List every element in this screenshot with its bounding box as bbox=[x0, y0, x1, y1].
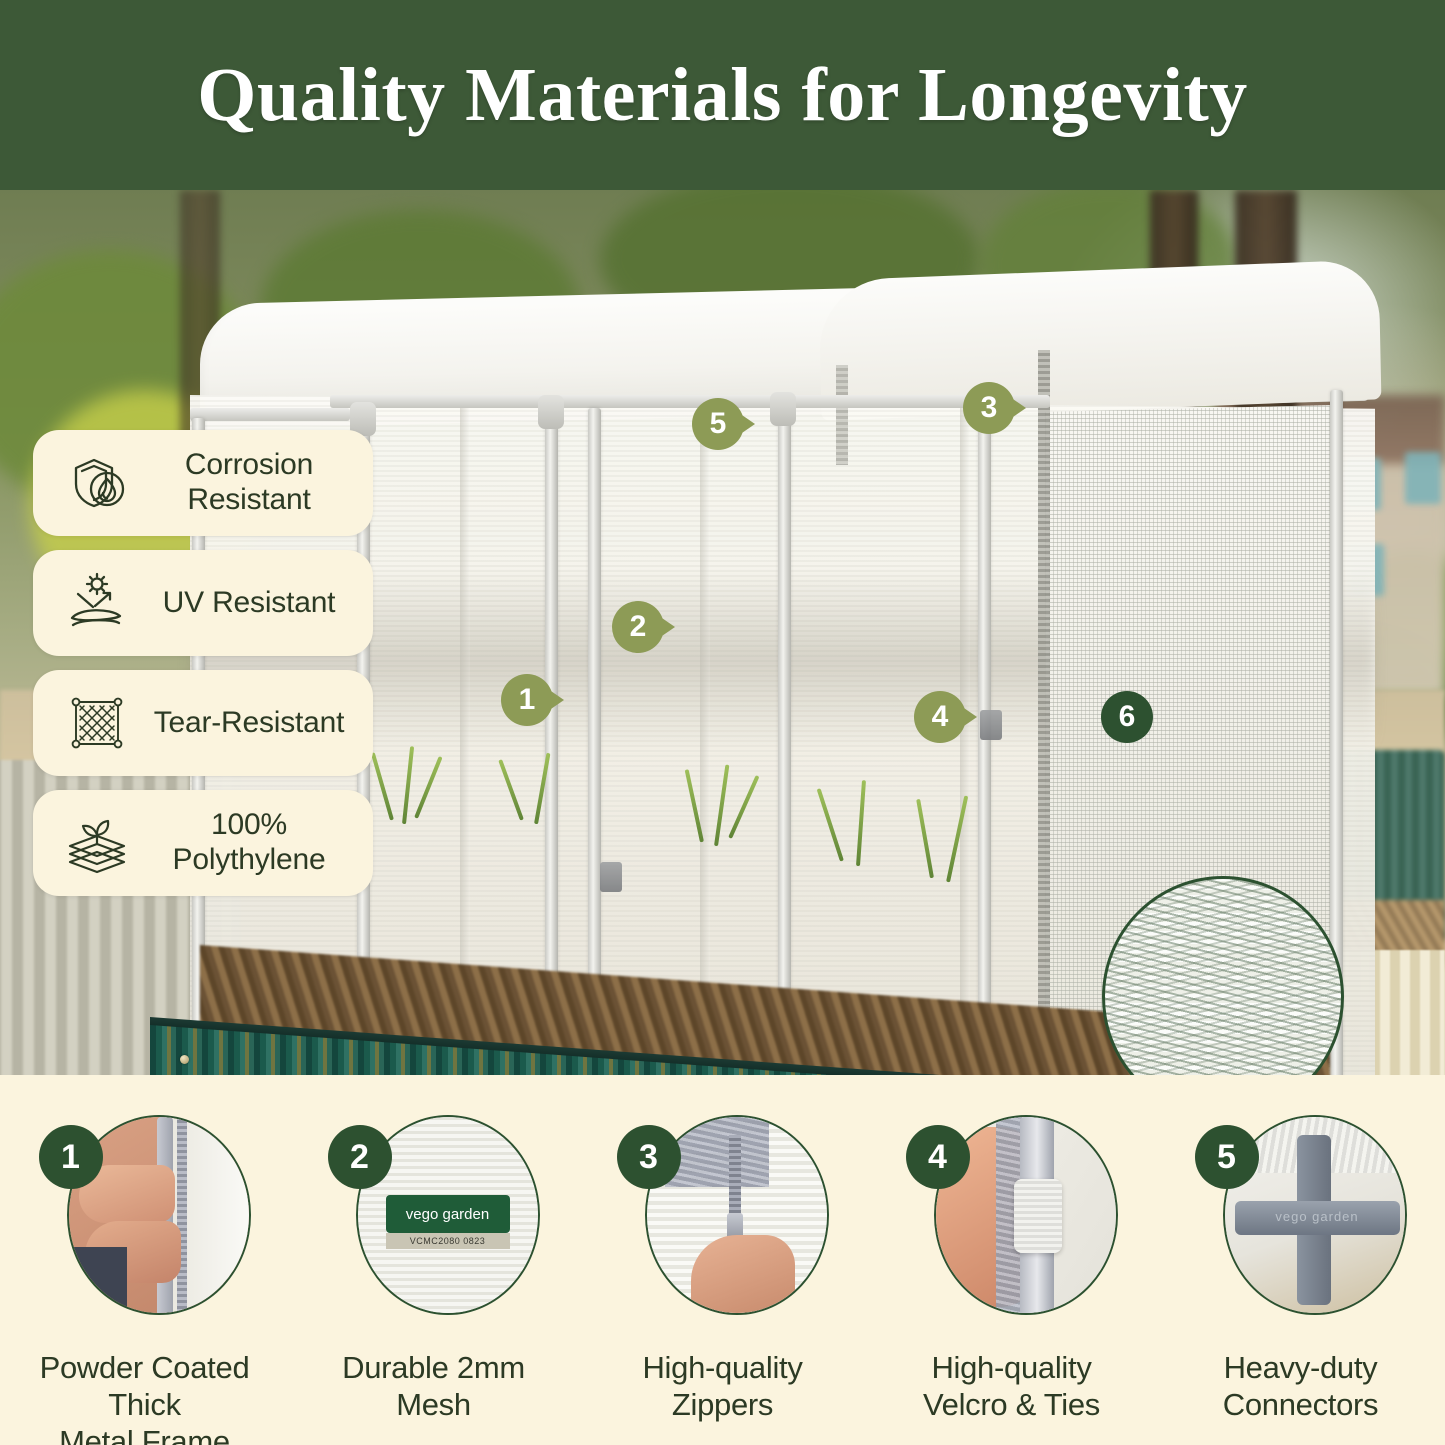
photo-pin-1[interactable]: 1 bbox=[501, 674, 553, 726]
badge-tear-resistant[interactable]: Tear-Resistant bbox=[33, 670, 373, 776]
bottom-feature-strip: 1 Powder Coated Thick Metal Frame vego g… bbox=[0, 1075, 1445, 1445]
bottom-circle-wrap: vego garden VCMC2080 0823 2 bbox=[328, 1115, 540, 1315]
bottom-caption-3: High-quality Zippers bbox=[642, 1349, 802, 1423]
bottom-number-2: 2 bbox=[328, 1125, 392, 1189]
sleeve-art bbox=[69, 1247, 127, 1315]
bottom-number-text: 5 bbox=[1217, 1138, 1236, 1177]
connector-brand-label: vego garden bbox=[1275, 1209, 1358, 1224]
photo-pin-number: 2 bbox=[630, 610, 647, 644]
bottom-caption-5: Heavy-duty Connectors bbox=[1223, 1349, 1379, 1423]
badge-corrosion-resistant[interactable]: Corrosion Resistant bbox=[33, 430, 373, 536]
bottom-item-2[interactable]: vego garden VCMC2080 0823 2 Durable 2mm … bbox=[289, 1115, 578, 1423]
photo-pin-number: 5 bbox=[710, 407, 727, 441]
bottom-circle-wrap: 3 bbox=[617, 1115, 829, 1315]
cover-panel-seam bbox=[960, 400, 970, 1075]
bottom-caption-line2: Connectors bbox=[1223, 1386, 1379, 1423]
bottom-number-4: 4 bbox=[906, 1125, 970, 1189]
bottom-item-5[interactable]: vego garden 5 Heavy-duty Connectors bbox=[1156, 1115, 1445, 1423]
bottom-caption-1: Powder Coated Thick Metal Frame bbox=[0, 1349, 289, 1445]
bottom-number-text: 3 bbox=[639, 1138, 658, 1177]
bottom-caption-line2: Metal Frame bbox=[0, 1423, 289, 1445]
bottom-caption-line2: Zippers bbox=[642, 1386, 802, 1423]
badge-label: UV Resistant bbox=[139, 586, 373, 621]
frame-connector bbox=[770, 392, 796, 426]
cover-panel-seam bbox=[700, 400, 710, 1075]
background-window bbox=[1405, 452, 1441, 504]
sun-uv-deflect-icon bbox=[55, 572, 139, 634]
frame-rail-top bbox=[330, 395, 1050, 408]
cover-zipper bbox=[836, 365, 848, 465]
header-banner: Quality Materials for Longevity bbox=[0, 0, 1445, 190]
photo-pin-number: 4 bbox=[932, 700, 949, 734]
bottom-circle-wrap: vego garden 5 bbox=[1195, 1115, 1407, 1315]
hand-art bbox=[691, 1235, 795, 1315]
badge-label-line1: 100% bbox=[139, 808, 359, 843]
photo-pin-number: 3 bbox=[981, 391, 998, 425]
velcro-strap-art bbox=[1014, 1179, 1062, 1253]
velcro-tab bbox=[600, 862, 622, 892]
photo-pin-4[interactable]: 4 bbox=[914, 691, 966, 743]
brand-tag-text: vego garden bbox=[406, 1206, 489, 1223]
badge-label-line1: Tear-Resistant bbox=[139, 706, 359, 741]
infographic-page: Quality Materials for Longevity bbox=[0, 0, 1445, 1445]
bottom-item-1[interactable]: 1 Powder Coated Thick Metal Frame bbox=[0, 1115, 289, 1445]
zipper-art bbox=[177, 1117, 187, 1315]
bottom-caption-line2: Velcro & Ties bbox=[923, 1386, 1100, 1423]
bottom-item-4[interactable]: 4 High-quality Velcro & Ties bbox=[867, 1115, 1156, 1423]
bottom-item-3[interactable]: 3 High-quality Zippers bbox=[578, 1115, 867, 1423]
velcro-tab bbox=[980, 710, 1002, 740]
bottom-caption-line1: High-quality bbox=[923, 1349, 1100, 1386]
bottom-caption-line1: Durable 2mm bbox=[342, 1349, 525, 1386]
cover-zipper bbox=[1038, 350, 1050, 1075]
product-photo: 1 2 3 4 5 6 bbox=[0, 190, 1445, 1075]
bottom-caption-line1: Heavy-duty bbox=[1223, 1349, 1379, 1386]
photo-pin-6[interactable]: 6 bbox=[1101, 691, 1153, 743]
bottom-caption-4: High-quality Velcro & Ties bbox=[923, 1349, 1100, 1423]
bottom-number-5: 5 bbox=[1195, 1125, 1259, 1189]
bottom-number-1: 1 bbox=[39, 1125, 103, 1189]
frame-rail-top bbox=[190, 408, 350, 421]
photo-pin-5[interactable]: 5 bbox=[692, 398, 744, 450]
bottom-caption-2: Durable 2mm Mesh bbox=[342, 1349, 525, 1423]
bottom-number-text: 1 bbox=[61, 1138, 80, 1177]
badge-label: 100% Polythylene bbox=[139, 808, 373, 878]
shield-droplet-icon bbox=[55, 452, 139, 514]
badge-label-line1: Corrosion bbox=[139, 448, 359, 483]
brand-tag: vego garden bbox=[386, 1195, 510, 1233]
bottom-caption-line1: High-quality bbox=[642, 1349, 802, 1386]
frame-pole bbox=[778, 404, 791, 1075]
connector-brand-text: vego garden bbox=[1235, 1209, 1400, 1224]
brand-tag-code-text: VCMC2080 0823 bbox=[410, 1236, 486, 1246]
badge-label-line1: UV Resistant bbox=[139, 586, 359, 621]
badge-polythylene[interactable]: 100% Polythylene bbox=[33, 790, 373, 896]
bottom-number-text: 4 bbox=[928, 1138, 947, 1177]
photo-pin-number: 1 bbox=[519, 683, 536, 717]
bottom-number-3: 3 bbox=[617, 1125, 681, 1189]
frame-connector bbox=[538, 395, 564, 429]
bottom-circle-wrap: 1 bbox=[39, 1115, 251, 1315]
page-title: Quality Materials for Longevity bbox=[197, 52, 1248, 139]
feature-badge-list: Corrosion Resistant UV Resist bbox=[33, 430, 373, 910]
photo-pin-2[interactable]: 2 bbox=[612, 601, 664, 653]
badge-label-line2: Polythylene bbox=[139, 843, 359, 878]
bottom-caption-line2: Mesh bbox=[342, 1386, 525, 1423]
badge-label: Corrosion Resistant bbox=[139, 448, 373, 518]
brand-tag-code: VCMC2080 0823 bbox=[386, 1233, 510, 1249]
bed-screw bbox=[180, 1055, 189, 1064]
bottom-number-text: 2 bbox=[350, 1138, 369, 1177]
layers-leaf-icon bbox=[55, 812, 139, 874]
photo-pin-3[interactable]: 3 bbox=[963, 382, 1015, 434]
bottom-caption-line1: Powder Coated Thick bbox=[0, 1349, 289, 1423]
mesh-net-icon bbox=[55, 692, 139, 754]
badge-label-line2: Resistant bbox=[139, 483, 359, 518]
photo-pin-number: 6 bbox=[1119, 700, 1136, 734]
badge-uv-resistant[interactable]: UV Resistant bbox=[33, 550, 373, 656]
bottom-circle-wrap: 4 bbox=[906, 1115, 1118, 1315]
badge-label: Tear-Resistant bbox=[139, 706, 373, 741]
